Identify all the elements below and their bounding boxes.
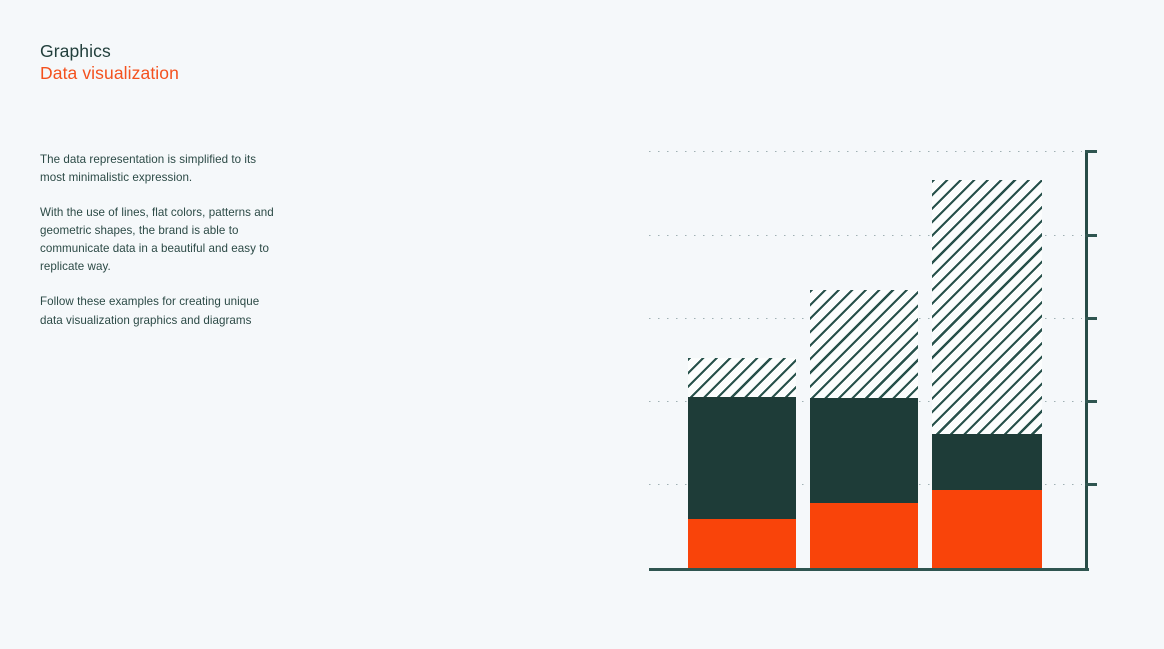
description-paragraph-1: The data representation is simplified to… <box>40 151 280 187</box>
slide-canvas: Graphics Data visualization The data rep… <box>0 0 1164 649</box>
bar-3 <box>932 180 1042 568</box>
bar-3-segment-accent <box>932 490 1042 568</box>
y-axis-tick-5 <box>1085 150 1097 153</box>
bar-group <box>649 148 1089 573</box>
y-axis-tick-1 <box>1085 483 1097 486</box>
description-paragraph-3: Follow these examples for creating uniqu… <box>40 293 280 329</box>
description-text-block: The data representation is simplified to… <box>40 151 280 330</box>
bar-1-segment-hatch <box>688 358 796 397</box>
page-subtitle: Data visualization <box>40 62 179 84</box>
page-title-group: Graphics Data visualization <box>40 40 179 85</box>
page-title: Graphics <box>40 40 179 62</box>
description-paragraph-2: With the use of lines, flat colors, patt… <box>40 204 280 276</box>
stacked-bar-chart <box>649 148 1089 573</box>
y-axis-tick-4 <box>1085 234 1097 237</box>
bar-3-segment-dark <box>932 434 1042 490</box>
bar-1-segment-dark <box>688 397 796 519</box>
bar-3-segment-hatch <box>932 180 1042 434</box>
y-axis-tick-3 <box>1085 317 1097 320</box>
y-axis-line <box>1085 150 1088 568</box>
y-axis-tick-2 <box>1085 400 1097 403</box>
bar-1 <box>688 358 796 568</box>
bar-2-segment-dark <box>810 398 918 503</box>
bar-2-segment-hatch <box>810 290 918 398</box>
bar-2 <box>810 290 918 568</box>
bar-2-segment-accent <box>810 503 918 568</box>
x-axis-line <box>649 568 1089 571</box>
bar-1-segment-accent <box>688 519 796 568</box>
